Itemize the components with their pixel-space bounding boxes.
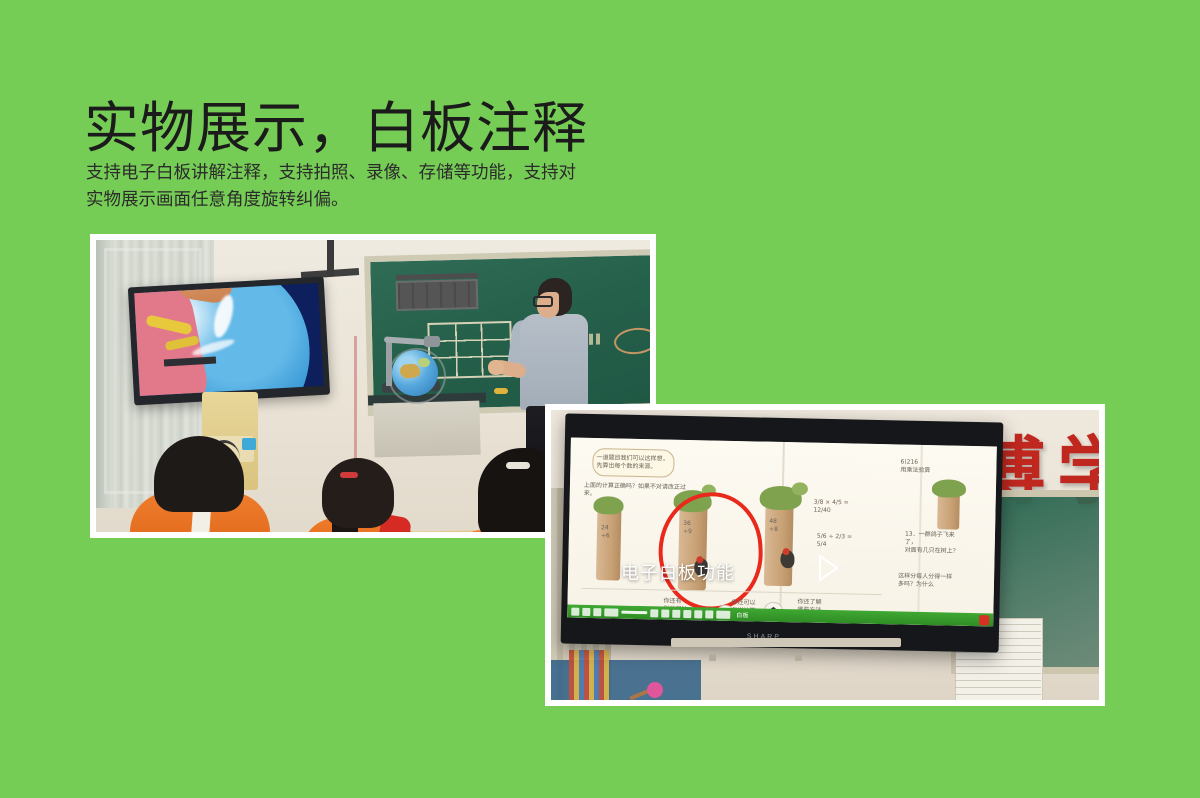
- wall-display-screen: [134, 283, 323, 396]
- teacher-glasses: [533, 296, 553, 307]
- document-camera-head: [424, 336, 440, 347]
- student-2-hairclip: [340, 472, 358, 478]
- worksheet-page: 一道题目我们可以这样想，先算出每个数的来源。 上面的计算正确吗？如果不对请改正过…: [567, 438, 997, 627]
- worksheet-leaf-3b: [792, 482, 808, 495]
- teacher-hand: [488, 360, 504, 375]
- teacher-wristband: [494, 388, 508, 394]
- toolbar-eraser-icon[interactable]: [593, 608, 601, 616]
- toolbar-record-icon[interactable]: [694, 610, 702, 618]
- globe-object-land-2: [418, 358, 430, 367]
- play-triangle-icon[interactable]: [816, 554, 840, 582]
- toolbar-undo-icon[interactable]: [650, 609, 658, 617]
- worksheet-right-note-3: 这样分每人分得一样多吗？为什么: [898, 572, 954, 589]
- toolbar-close-icon[interactable]: [979, 615, 989, 625]
- worksheet-handwriting-1: 一道题目我们可以这样想，先算出每个数的来源。: [596, 454, 668, 472]
- wall-display: [128, 277, 330, 406]
- toolbar-shape-icon[interactable]: [604, 608, 618, 616]
- student-3-hairclip: [506, 462, 530, 469]
- shelf-books: [569, 650, 609, 700]
- page-title: 实物展示，白板注释: [84, 95, 588, 161]
- red-annotation-circle[interactable]: [656, 490, 766, 613]
- globe-closeup-image: [134, 283, 315, 396]
- worksheet-fraction-1: 3/8 × 4/5 = 12/40: [813, 499, 853, 516]
- worksheet-tree-3: [764, 502, 794, 587]
- teacher-desk-body: [373, 401, 480, 458]
- toolbar-label: 白板: [736, 610, 749, 619]
- toolbar-pen-icon[interactable]: [582, 607, 590, 615]
- video-overlay-label: 电子白板功能: [621, 559, 735, 585]
- worksheet-tree-1: [596, 508, 622, 580]
- worksheet-fraction-2: 5/6 ÷ 2/3 = 5/4: [817, 533, 853, 550]
- worksheet-tree-3-math: 48÷8: [769, 518, 789, 534]
- panel-mount-bolt-2: [795, 654, 802, 661]
- teacher-torso: [520, 314, 588, 410]
- worksheet-right-note-2: 13．一群鸽子飞来了，对面有几只在树上？: [905, 531, 961, 556]
- worksheet-leaf-1: [593, 496, 623, 515]
- panel-mount-bolt-1: [709, 654, 716, 661]
- toolbar-menu-icon[interactable]: [571, 607, 579, 615]
- decoration-flower: [647, 682, 663, 698]
- page-root: 实物展示，白板注释 支持电子白板讲解注释，支持拍照、录像、存储等功能，支持对 实…: [0, 0, 1200, 798]
- chalkboard-chart: [396, 279, 479, 311]
- display-mount-pole: [327, 240, 334, 276]
- toolbar-thickness-slider[interactable]: [621, 611, 647, 615]
- toolbar-page-icon[interactable]: [716, 610, 730, 618]
- subtitle-line-2: 实物展示画面任意角度旋转纠偏。: [86, 189, 349, 209]
- panel-wall-mount: [671, 638, 901, 647]
- worksheet-right-note-1: 6)216用乘法验算: [900, 458, 950, 475]
- panel-screen: 一道题目我们可以这样想，先算出每个数的来源。 上面的计算正确吗？如果不对请改正过…: [567, 438, 997, 627]
- student-2-head: [322, 458, 394, 528]
- toolbar-camera-icon[interactable]: [683, 609, 691, 617]
- interactive-flat-panel: 一道题目我们可以这样想，先算出每个数的来源。 上面的计算正确吗？如果不对请改正过…: [561, 413, 1004, 652]
- worksheet-tree-1-math: 24÷6: [601, 524, 619, 540]
- subtitle-line-1: 支持电子白板讲解注释，支持拍照、录像、存储等功能，支持对: [86, 162, 576, 182]
- page-subtitle: 支持电子白板讲解注释，支持拍照、录像、存储等功能，支持对 实物展示画面任意角度旋…: [86, 159, 666, 213]
- toolbar-select-icon[interactable]: [672, 609, 680, 617]
- toolbar-redo-icon[interactable]: [661, 609, 669, 617]
- worksheet-leaf-4: [932, 479, 966, 498]
- toolbar-save-icon[interactable]: [705, 610, 713, 618]
- cabinet-badge: [242, 438, 256, 450]
